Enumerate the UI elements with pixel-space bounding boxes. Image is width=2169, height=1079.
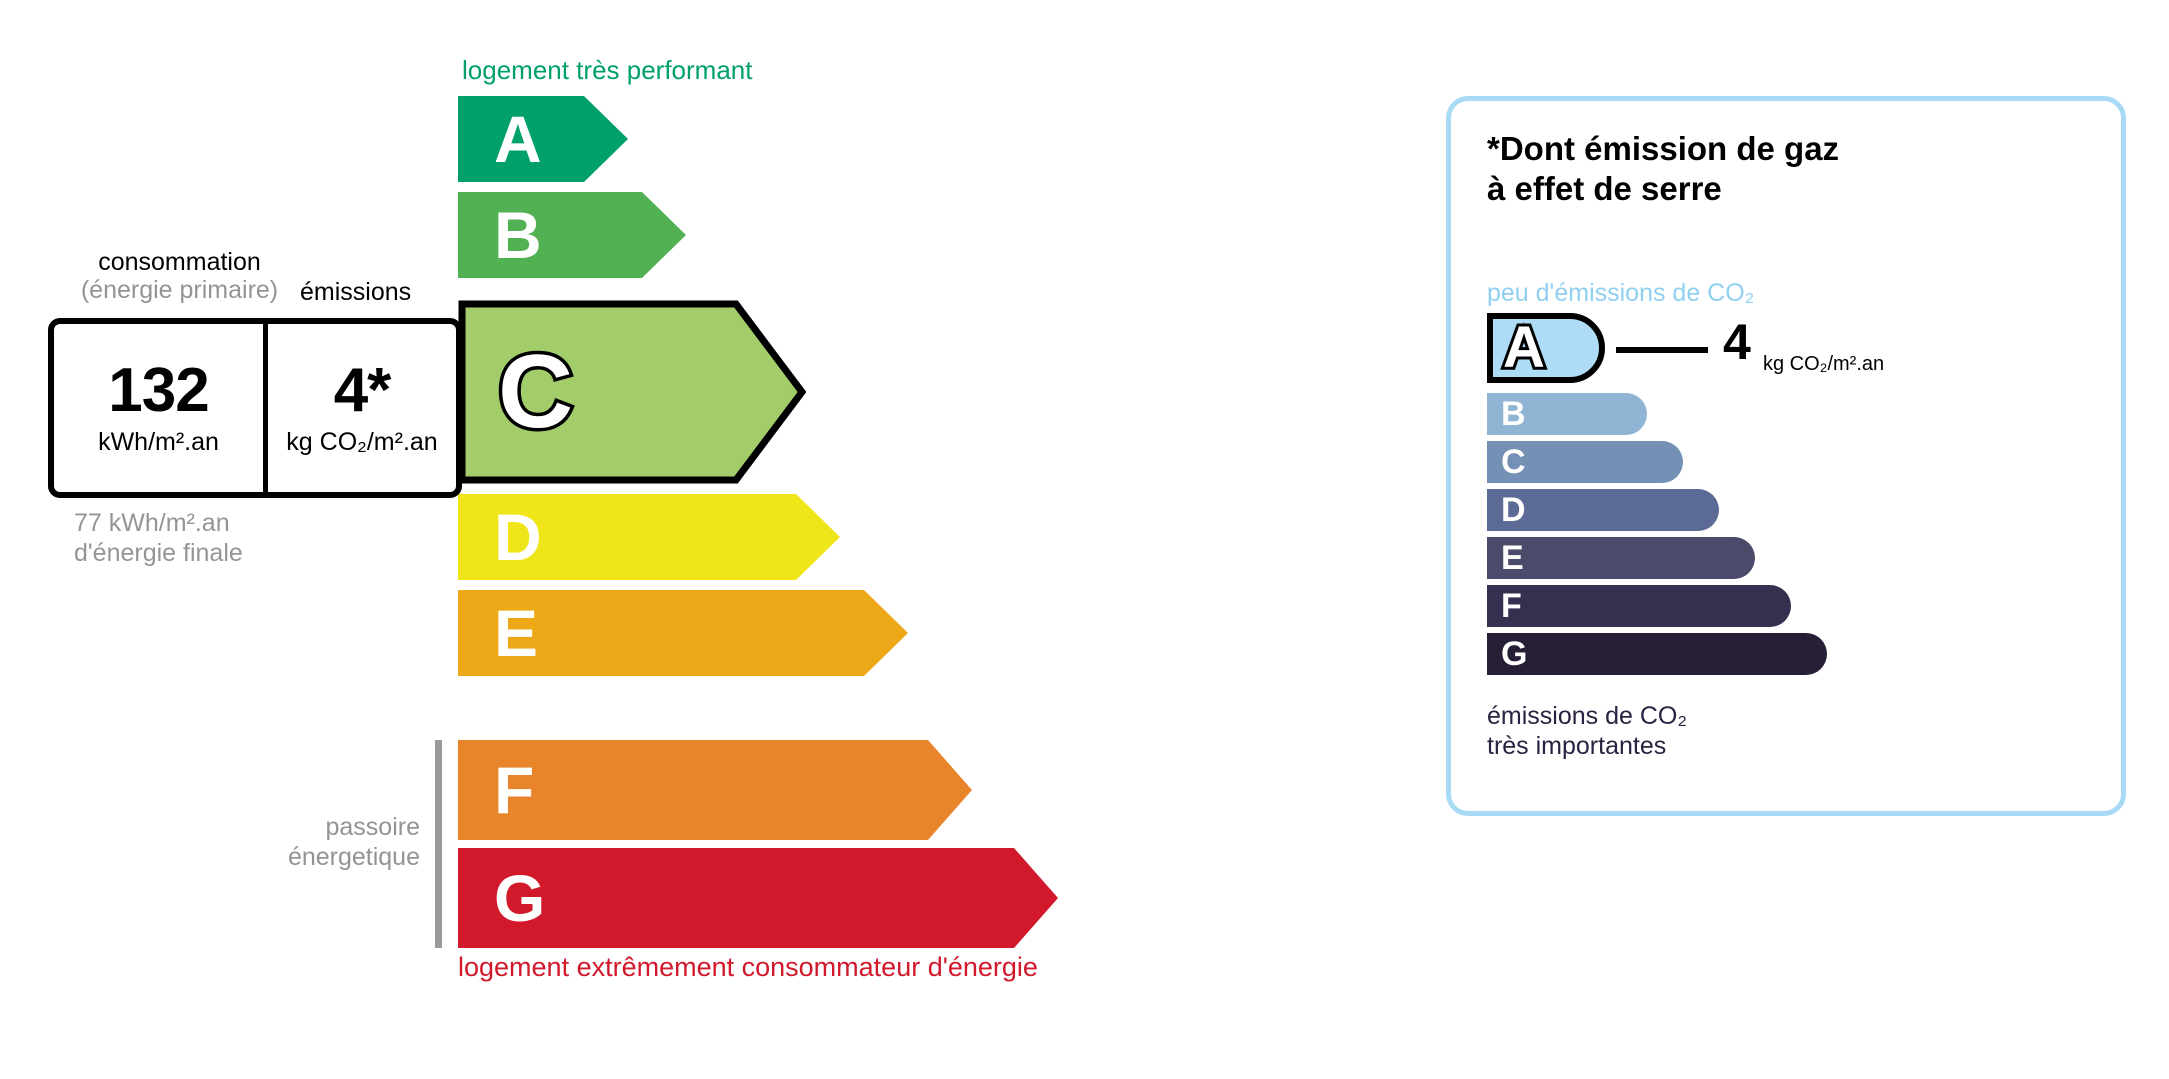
energy-class-letter-c: C bbox=[498, 340, 573, 444]
co2-title-line2: à effet de serre bbox=[1487, 169, 1839, 209]
co2-class-letter-a: A bbox=[1503, 319, 1545, 377]
energy-class-letter-e: E bbox=[494, 600, 538, 666]
energy-class-bar-f: F bbox=[458, 740, 972, 840]
co2-bottom-line2: très importantes bbox=[1487, 731, 1687, 761]
arrow-shape-f bbox=[458, 740, 972, 840]
energy-class-bar-c: C bbox=[458, 300, 806, 484]
dpe-energy-scale-panel: logement très performant consommation (é… bbox=[0, 0, 1400, 1079]
energy-class-bar-e: E bbox=[458, 590, 908, 676]
emissions-unit: kg CO₂/m².an bbox=[286, 428, 437, 457]
co2-class-bar-d: D bbox=[1487, 489, 1719, 531]
co2-class-bar-f: F bbox=[1487, 585, 1791, 627]
passoire-marker-line bbox=[435, 740, 442, 948]
energy-class-bar-b: B bbox=[458, 192, 686, 278]
energy-class-bar-d: D bbox=[458, 494, 840, 580]
co2-bottom-line1: émissions de CO₂ bbox=[1487, 701, 1687, 731]
consumption-unit: kWh/m².an bbox=[98, 428, 219, 457]
co2-value-unit: kg CO₂/m².an bbox=[1763, 353, 1884, 376]
energy-class-letter-a: A bbox=[494, 106, 542, 172]
arrow-shape-a bbox=[458, 96, 628, 182]
co2-class-letter-f: F bbox=[1501, 589, 1522, 623]
arrow-shape-b bbox=[458, 192, 686, 278]
passoire-label-line2: énergetique bbox=[250, 842, 420, 872]
consumption-value: 132 bbox=[108, 360, 208, 422]
co2-class-bar-g: G bbox=[1487, 633, 1827, 675]
co2-class-bar-e: E bbox=[1487, 537, 1755, 579]
co2-leader-line bbox=[1616, 347, 1708, 353]
energy-class-letter-d: D bbox=[494, 504, 542, 570]
emissions-value: 4* bbox=[334, 360, 391, 422]
co2-class-letter-g: G bbox=[1501, 637, 1527, 671]
co2-class-bar-c: C bbox=[1487, 441, 1683, 483]
co2-class-letter-b: B bbox=[1501, 397, 1526, 431]
co2-top-caption: peu d'émissions de CO₂ bbox=[1487, 279, 1754, 308]
arrow-shape-g bbox=[458, 848, 1058, 948]
value-readout-box: 132 kWh/m².an 4* kg CO₂/m².an bbox=[48, 318, 462, 498]
energy-class-letter-f: F bbox=[494, 757, 534, 823]
consumption-value-cell: 132 kWh/m².an bbox=[54, 324, 263, 492]
energy-class-letter-g: G bbox=[494, 865, 545, 931]
co2-bottom-caption: émissions de CO₂ très importantes bbox=[1487, 701, 1687, 761]
scale-bottom-caption: logement extrêmement consommateur d'éner… bbox=[458, 952, 1038, 983]
co2-panel-title: *Dont émission de gaz à effet de serre bbox=[1487, 129, 1839, 210]
passoire-label-line1: passoire bbox=[250, 812, 420, 842]
co2-class-letter-e: E bbox=[1501, 541, 1524, 575]
co2-title-line1: *Dont émission de gaz bbox=[1487, 129, 1839, 169]
co2-class-letter-c: C bbox=[1501, 445, 1526, 479]
co2-class-bar-b: B bbox=[1487, 393, 1647, 435]
passoire-label: passoire énergetique bbox=[250, 812, 420, 872]
energy-class-bars: ABCDEFG bbox=[0, 0, 1400, 1079]
emissions-value-cell: 4* kg CO₂/m².an bbox=[263, 324, 456, 492]
energy-class-bar-a: A bbox=[458, 96, 628, 182]
co2-class-badge-a: A bbox=[1487, 313, 1605, 383]
energy-class-letter-b: B bbox=[494, 202, 542, 268]
co2-class-letter-d: D bbox=[1501, 493, 1526, 527]
energy-class-bar-g: G bbox=[458, 848, 1058, 948]
co2-emissions-panel: *Dont émission de gaz à effet de serre p… bbox=[1446, 96, 2126, 816]
co2-value: 4 bbox=[1723, 317, 1751, 367]
